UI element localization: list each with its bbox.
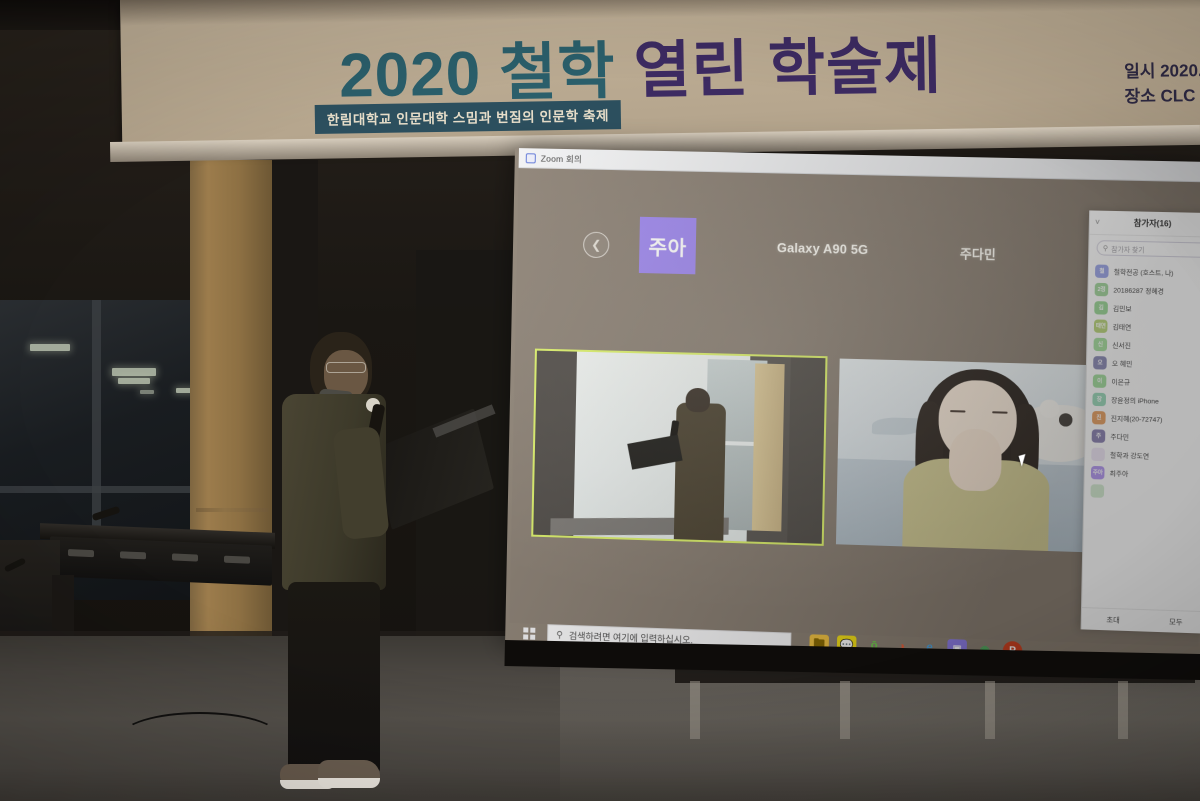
- banner-title-part1: 철학: [499, 37, 616, 108]
- participant-name: 신서진: [1112, 339, 1131, 350]
- participants-count-title: 참가자(16): [1134, 217, 1172, 229]
- presenter-legs: [288, 582, 380, 772]
- participant-thumb-label: 주아: [648, 231, 687, 261]
- participants-search-placeholder: 참가자 찾기: [1111, 243, 1145, 254]
- window-mullion: [92, 300, 101, 560]
- avatar: 태연: [1094, 319, 1108, 333]
- zoom-icon: [526, 153, 536, 163]
- ceiling-light-reflection: [30, 344, 70, 351]
- participant-thumb-label: Galaxy A90 5G: [777, 241, 869, 257]
- participant-thumb-active[interactable]: 주아: [639, 217, 697, 275]
- avatar: 이: [1093, 374, 1107, 388]
- avatar: 신: [1093, 337, 1107, 351]
- wood-column-seam: [196, 508, 268, 512]
- speaker-video-frame: [533, 351, 825, 544]
- avatar: [1091, 447, 1105, 461]
- banner-info: 일시 2020. 장소 CLC 4: [1124, 59, 1200, 110]
- participant-thumb-label: 주다민: [960, 243, 996, 263]
- participants-search-input[interactable]: ⚲ 참가자 찾기: [1096, 240, 1200, 258]
- avatar: 김: [1094, 301, 1108, 315]
- participant-name: 20186287 정혜경: [1113, 284, 1164, 295]
- participant-name: 이은규: [1111, 376, 1130, 387]
- avatar: 철: [1095, 264, 1109, 278]
- participant-thumb[interactable]: Galaxy A90 5G: [736, 221, 910, 277]
- participants-panel-header: ˅ 참가자(16): [1090, 210, 1200, 237]
- chevron-left-icon[interactable]: ❮: [583, 232, 610, 259]
- participants-panel-footer: 초대 모두: [1082, 607, 1200, 634]
- riser-leg: [690, 681, 700, 739]
- riser-leg: [840, 681, 850, 739]
- search-icon: ⚲: [1103, 244, 1108, 252]
- banner-info-date: 일시 2020.: [1124, 59, 1200, 85]
- avatar: [1091, 484, 1105, 498]
- remote-student-video-frame: [836, 359, 1119, 554]
- participant-name: 최주아: [1110, 467, 1129, 478]
- ceiling-light-reflection: [112, 368, 156, 376]
- speaker-video-tile[interactable]: [531, 349, 827, 546]
- participant-name: 주다민: [1110, 431, 1129, 442]
- participant-name: 철학과 강도연: [1110, 449, 1149, 460]
- screenshot-root: 2020 철학 열린 학술제 한림대학교 인문대학 스밈과 번짐의 인문학 축제…: [0, 0, 1200, 801]
- participants-list[interactable]: 철 철학전공 (호스트, 나) 2정 20186287 정혜경 김 김민보 태연…: [1082, 259, 1200, 611]
- projection-screen: Zoom 회의 ❮ 주아 Galaxy A90 5G 주다민 오 혜민: [505, 148, 1200, 670]
- participant-name: 김민보: [1113, 303, 1132, 314]
- remote-student-video-tile[interactable]: [836, 359, 1119, 554]
- list-item[interactable]: [1084, 481, 1200, 503]
- participant-name: 김태연: [1113, 321, 1132, 332]
- ceiling-light-reflection: [140, 390, 154, 394]
- avatar: 2정: [1095, 282, 1109, 296]
- participant-name: 진지혜(20-72747): [1111, 412, 1163, 424]
- participant-name: 오 혜민: [1112, 358, 1133, 369]
- ceiling-light-reflection: [118, 378, 150, 384]
- participant-name: 장윤정의 iPhone: [1111, 394, 1159, 405]
- participants-panel: ˅ 참가자(16) ⚲ 참가자 찾기 철 철학전공 (호스트, 나) 2정 20…: [1081, 210, 1200, 633]
- mute-all-button[interactable]: 모두: [1169, 617, 1183, 628]
- avatar: 주아: [1091, 465, 1105, 479]
- zoom-meeting-window: ❮ 주아 Galaxy A90 5G 주다민 오 혜민: [509, 168, 1200, 647]
- participant-name: 철학전공 (호스트, 나): [1114, 266, 1174, 278]
- banner-info-place: 장소 CLC 4: [1124, 84, 1200, 110]
- participant-thumb[interactable]: 주다민: [911, 225, 1046, 281]
- avatar: 장: [1092, 392, 1106, 406]
- presenter: [282, 332, 422, 794]
- presenter-shoe-sole: [318, 778, 380, 788]
- riser-leg: [985, 681, 995, 739]
- chevron-down-icon[interactable]: ˅: [1095, 218, 1100, 227]
- avatar: 진: [1092, 410, 1106, 424]
- banner-year: 2020: [339, 39, 482, 110]
- window-title: Zoom 회의: [541, 152, 582, 165]
- floor-cable: [120, 712, 280, 762]
- riser-leg: [1118, 681, 1128, 739]
- search-icon: ⚲: [556, 629, 563, 640]
- invite-button[interactable]: 초대: [1106, 614, 1120, 625]
- eyeglasses: [326, 362, 366, 373]
- avatar: 주: [1092, 429, 1106, 443]
- banner-subtitle: 한림대학교 인문대학 스밈과 번짐의 인문학 축제: [315, 100, 622, 134]
- banner-title-part2: 열린 학술제: [633, 32, 942, 106]
- banner-title: 2020 철학 열린 학술제: [338, 15, 942, 114]
- avatar: 오: [1093, 356, 1107, 370]
